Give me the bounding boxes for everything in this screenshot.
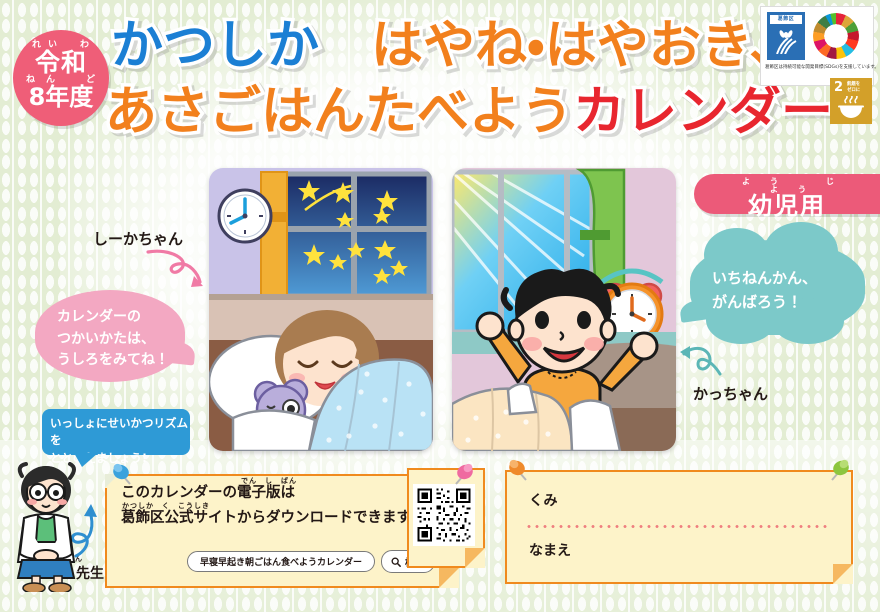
logo-card: 葛飾区 葛飾区は持続可能な開発目標(SDGs)を支援しています。: [760, 6, 874, 86]
search-icon: [391, 557, 401, 567]
sdg-goal-number: 2: [834, 81, 843, 94]
bubble-teal-line-2: がんばろう！: [712, 290, 817, 314]
class-field-label[interactable]: くみ: [529, 490, 558, 510]
title-line-1: かつしか はやね・はやおき、: [111, 20, 801, 72]
qr-note-corner-fold: [465, 548, 485, 568]
pushpin-blue-icon: [112, 462, 134, 486]
bubble-pink-line-3: うしろをみてね！: [57, 350, 169, 372]
title-calendar: カレンダー: [573, 82, 833, 142]
waking-boy-scene: [452, 168, 676, 451]
title-hayane-hayaoki: はやね・はやおき、: [371, 16, 801, 76]
steaming-bowl-icon: [837, 96, 865, 120]
bubble-pink-line-1: カレンダーの: [57, 307, 169, 329]
ward-logo-name-plate: 葛飾区: [770, 15, 802, 24]
search-row: 早寝早起き朝ごはん食べようカレンダー 検索: [187, 550, 435, 573]
arrow-to-shika-icon: [140, 246, 210, 294]
qr-code-matrix: [413, 484, 475, 546]
speech-bubble-blue-text: いっしょにせいかつリズムを ととのえましょう!: [50, 415, 190, 467]
download-line-1-furigana: でん し ばん: [241, 478, 297, 485]
search-input[interactable]: 早寝早起き朝ごはん食べようカレンダー: [187, 551, 375, 572]
ward-logo-name: 葛飾区: [770, 15, 802, 24]
download-info-text: でん し ばん このカレンダーの電子版は かつしか く こうしき 葛飾区公式サイ…: [121, 486, 424, 536]
bubble-teal-line-1: いちねんかん、: [712, 266, 817, 290]
name-field-label[interactable]: なまえ: [529, 540, 571, 560]
speech-bubble-teal-text: いちねんかん、 がんばろう！: [712, 266, 817, 314]
download-line-1-wrap: でん し ばん このカレンダーの電子版は: [121, 486, 424, 502]
speech-bubble-teal: いちねんかん、 がんばろう！: [690, 240, 865, 335]
year-badge-furigana-era: れい わ: [19, 30, 109, 50]
title-line-2: あさごはんたべようカレンダー: [105, 86, 833, 138]
sdg-goal-2-badge: 2 飢餓をゼロに: [830, 78, 872, 124]
year-badge-year: 8年度: [13, 85, 109, 110]
katsushika-ward-logo-icon: 葛飾区: [767, 12, 805, 60]
sdgs-color-wheel-icon: [813, 13, 859, 59]
download-line-2-furigana: かつしか く こうしき: [122, 503, 210, 510]
illustration-sleeping-girl: よるに ねむっている おんなのこ: [209, 168, 433, 451]
iris-flower-icon: [775, 28, 797, 54]
sdgs-support-caption: 葛飾区は持続可能な開発目標(SDGs)を支援しています。: [765, 64, 880, 71]
speech-bubble-pink-text: カレンダーの つかいかたは、 うしろをみてね！: [57, 307, 169, 372]
title-katsushika: かつしか: [111, 16, 319, 76]
bubble-blue-line-1: いっしょにせいかつリズムを: [50, 415, 190, 450]
note-corner-fold-bottom-right: [439, 568, 459, 588]
bubble-pink-line-2: つかいかたは、: [57, 329, 169, 351]
speech-bubble-blue: いっしょにせいかつリズムを ととのえましょう!: [42, 409, 190, 455]
speech-bubble-pink: カレンダーの つかいかたは、 うしろをみてね！: [35, 290, 185, 382]
audience-banner-label: 幼児用: [694, 194, 880, 219]
pushpin-pink-icon: [452, 462, 474, 486]
year-badge-era: 令和: [13, 50, 109, 76]
poster-root: れい わ 令和 ねん ど 8年度 かつしか はやね・はやおき、 あさごはんたべよ…: [0, 0, 880, 612]
sleeping-girl-scene: [209, 168, 433, 451]
year-badge: れい わ 令和 ねん ど 8年度: [13, 30, 109, 126]
audience-banner: よう じ よう 幼児用: [694, 174, 880, 214]
audience-banner-furigana: よう じ よう: [716, 174, 880, 194]
illustration-waking-boy: あさに おきて のびをする おとこのこ: [452, 168, 676, 451]
arrow-to-katchan-icon: [676, 340, 738, 388]
doctor-character-illustration: [2, 462, 94, 592]
qr-code[interactable]: QRコード: [413, 484, 475, 546]
download-line-2-wrap: かつしか く こうしき 葛飾区公式サイトからダウンロードできます。: [121, 511, 424, 527]
sdg-goal-label: 飢餓をゼロに: [847, 82, 860, 94]
field-divider-dotted: [525, 525, 831, 528]
download-line-1: このカレンダーの電子版は: [121, 485, 295, 501]
pushpin-orange-icon: [508, 458, 530, 482]
download-line-2: 葛飾区公式サイトからダウンロードできます。: [121, 510, 424, 526]
name-entry-note: くみ なまえ: [505, 470, 853, 584]
title-asagohan: あさごはんたべよう: [105, 82, 573, 142]
name-note-corner-fold: [833, 564, 853, 584]
page-title: かつしか はやね・はやおき、 あさごはんたべようカレンダー: [105, 6, 765, 146]
download-info-note: でん し ばん このカレンダーの電子版は かつしか く こうしき 葛飾区公式サイ…: [105, 474, 459, 588]
pushpin-green-icon: [828, 458, 850, 482]
